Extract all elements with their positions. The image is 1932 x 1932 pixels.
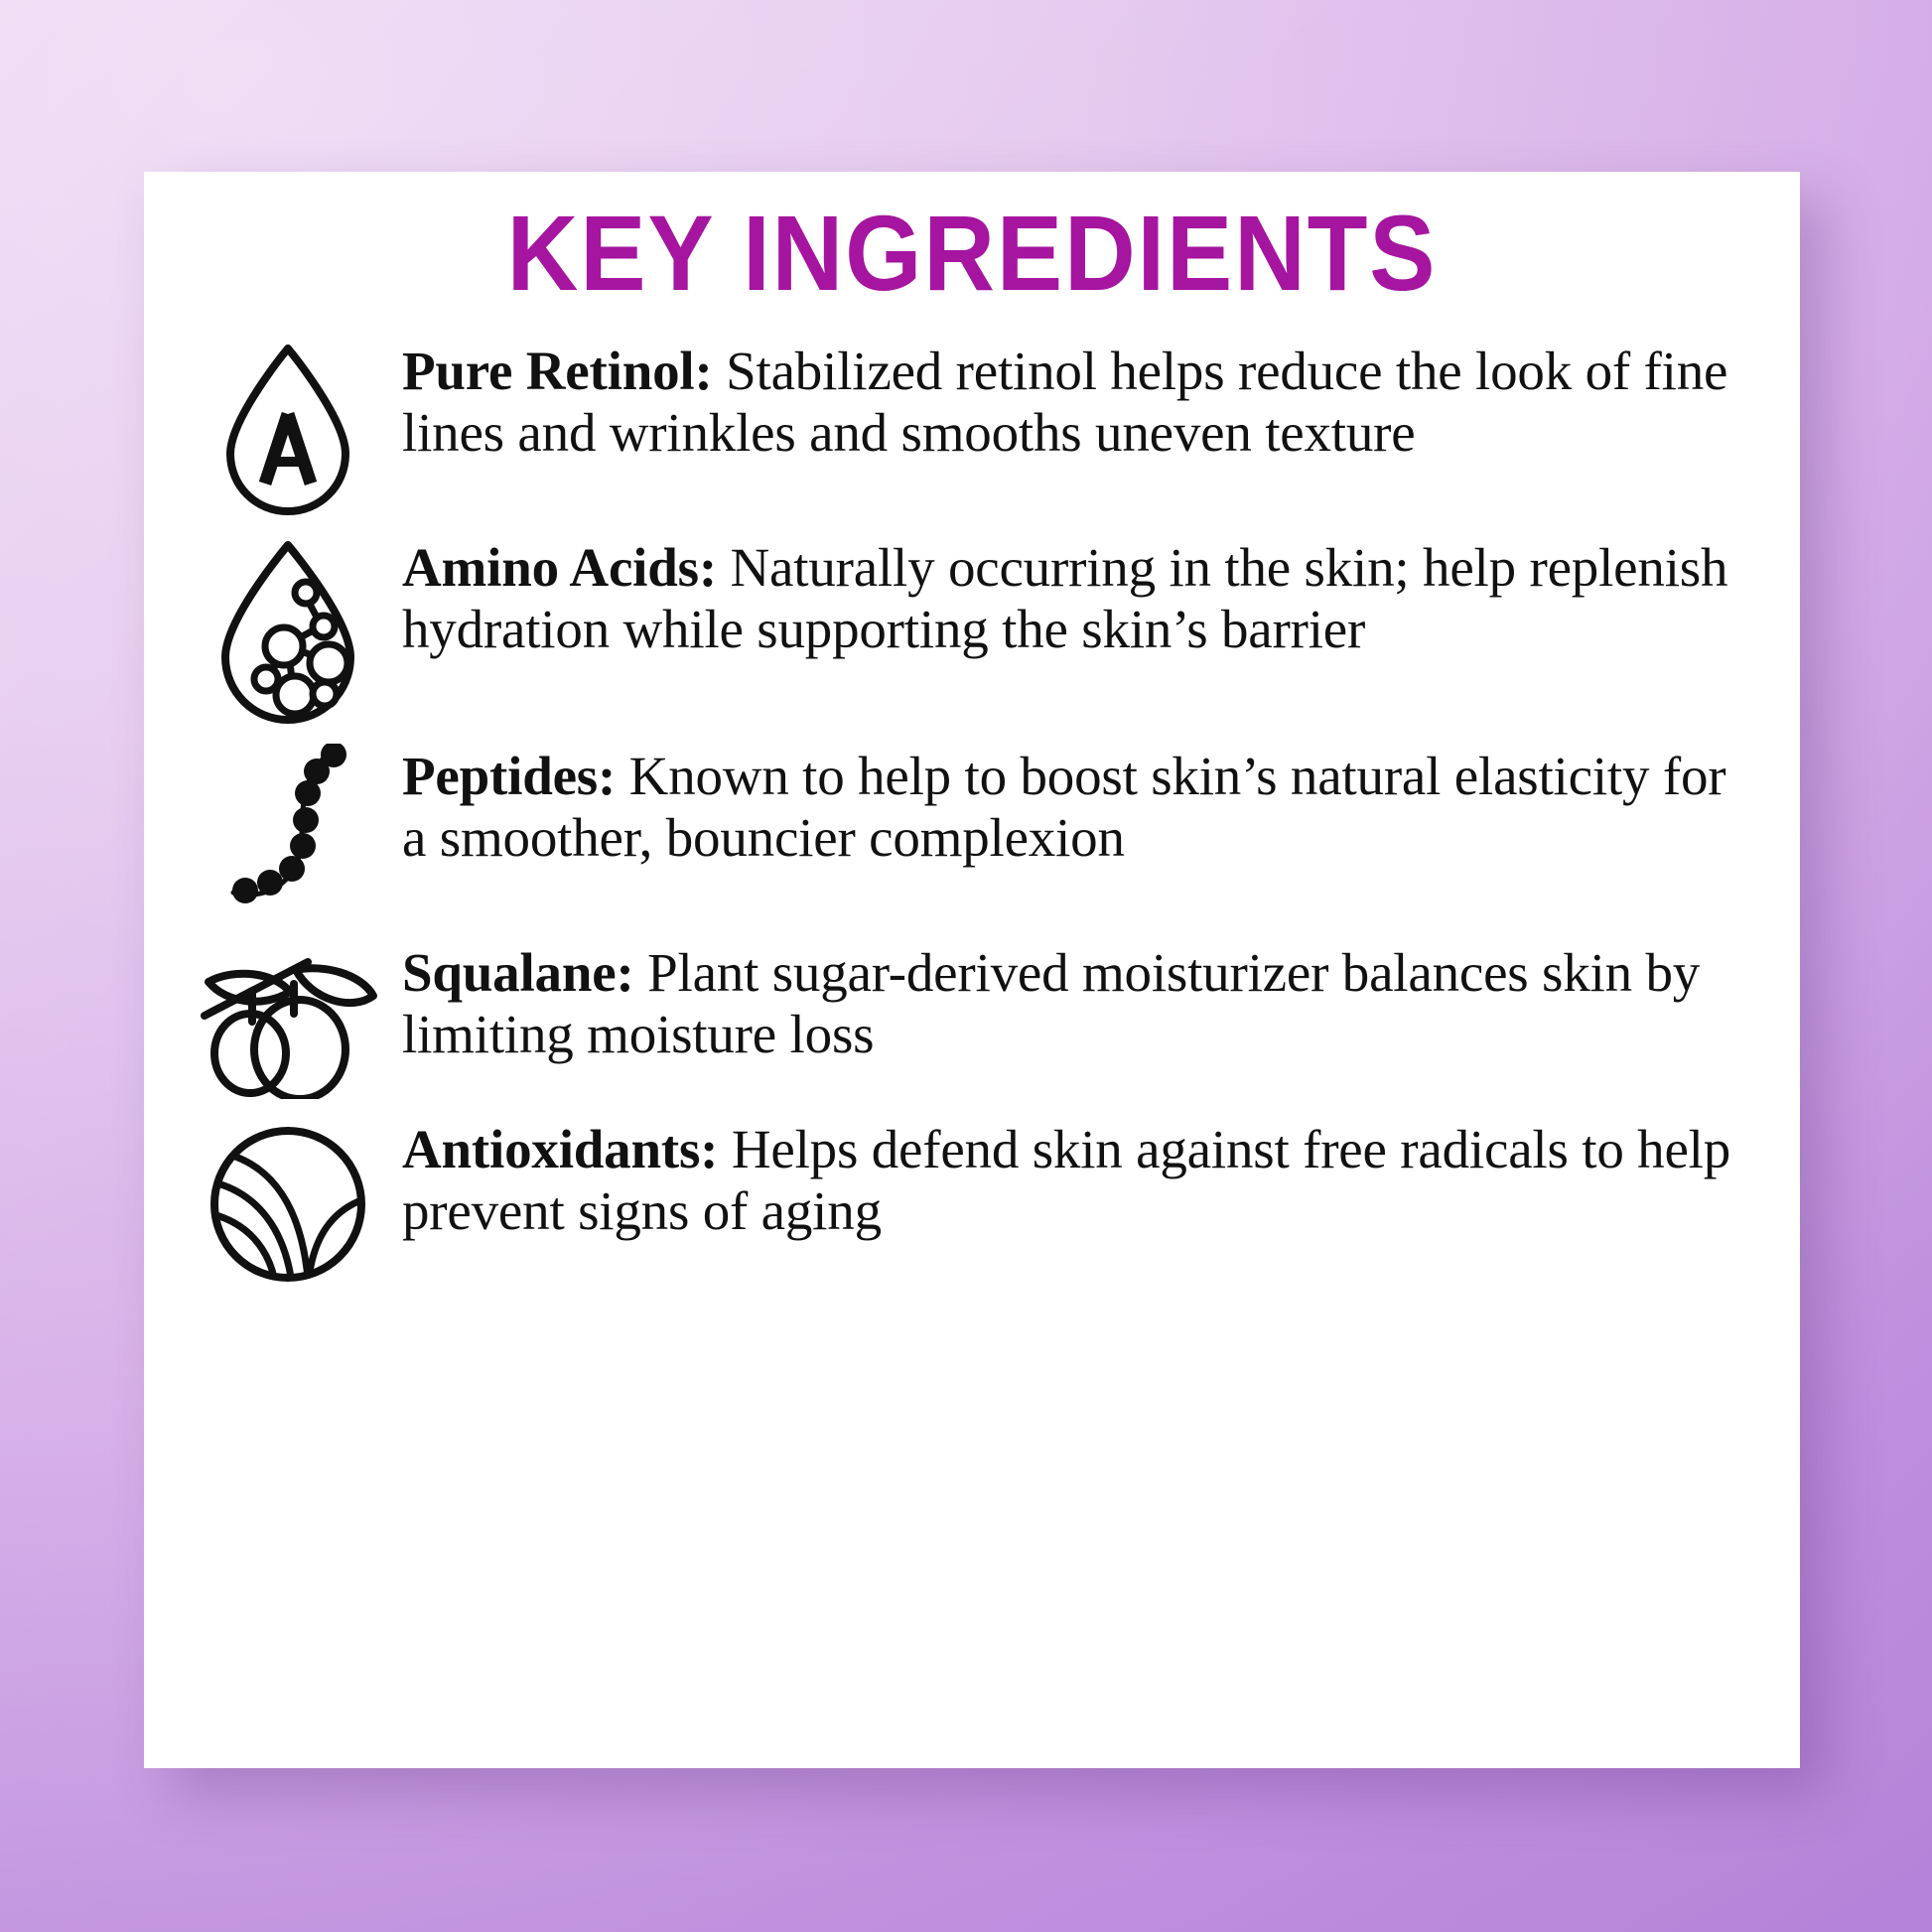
ingredient-text: Antioxidants: Helps defend skin against … — [402, 1117, 1740, 1243]
ingredient-name: Squalane: — [402, 942, 634, 1003]
ingredient-name: Pure Retinol: — [402, 341, 713, 401]
leaf-circle-icon — [208, 1125, 367, 1284]
list-item: Peptides: Known to help to boost skin’s … — [144, 744, 1800, 922]
ingredient-name: Antioxidants: — [402, 1119, 718, 1179]
list-item: Antioxidants: Helps defend skin against … — [144, 1117, 1800, 1284]
droplet-molecule-icon — [207, 537, 368, 726]
list-item: Amino Acids: Naturally occurring in the … — [144, 535, 1800, 726]
ingredient-name: Peptides: — [402, 746, 616, 806]
icon-cell — [174, 940, 402, 1099]
ingredient-text: Peptides: Known to help to boost skin’s … — [402, 744, 1740, 870]
key-ingredients-card: KEY INGREDIENTS Pure Retinol: Stabilized… — [144, 172, 1800, 1768]
ingredient-text: Amino Acids: Naturally occurring in the … — [402, 535, 1740, 661]
list-item: Pure Retinol: Stabilized retinol helps r… — [144, 339, 1800, 517]
olive-branch-icon — [191, 948, 385, 1099]
ingredient-text: Squalane: Plant sugar-derived moisturize… — [402, 940, 1740, 1066]
icon-cell — [174, 535, 402, 726]
list-item: Squalane: Plant sugar-derived moisturize… — [144, 940, 1800, 1099]
peptide-chain-icon — [213, 744, 362, 922]
icon-cell — [174, 339, 402, 517]
poster-background: KEY INGREDIENTS Pure Retinol: Stabilized… — [0, 0, 1932, 1932]
icon-cell — [174, 1117, 402, 1284]
ingredient-list: Pure Retinol: Stabilized retinol helps r… — [144, 339, 1800, 1284]
ingredient-name: Amino Acids: — [402, 537, 717, 598]
page-title: KEY INGREDIENTS — [210, 200, 1734, 307]
ingredient-text: Pure Retinol: Stabilized retinol helps r… — [402, 339, 1740, 465]
droplet-letter-a-icon — [212, 341, 363, 517]
icon-cell — [174, 744, 402, 922]
